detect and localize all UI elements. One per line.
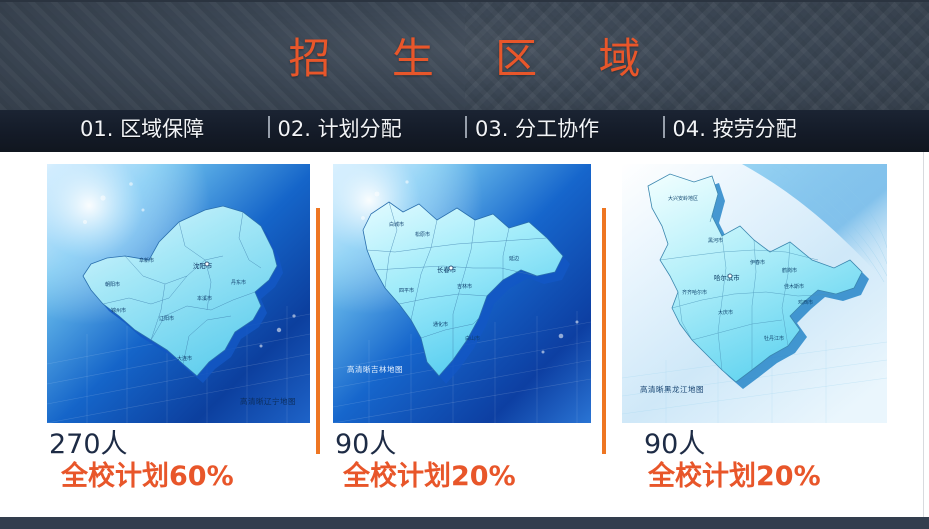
svg-text:辽阳市: 辽阳市	[159, 315, 174, 322]
nav-item-01-label: 区域保障	[120, 117, 204, 141]
svg-text:通化市: 通化市	[433, 321, 448, 328]
map-image-jilin: 长春市 白城市 松原市 四平市 吉林市 通化市 白山市 延边 高清晰吉林地图	[333, 164, 591, 423]
svg-text:丹东市: 丹东市	[231, 279, 246, 286]
column-divider-2	[602, 208, 606, 454]
slide-content: 沈阳市 阜新市 锦州市 辽阳市 本溪市 丹东市 大连市 朝阳市 高清晰辽宁地图 …	[0, 152, 929, 518]
svg-text:哈尔滨市: 哈尔滨市	[714, 273, 740, 282]
nav-item-03-number: 03.	[475, 117, 508, 141]
nav-item-04-number: 04.	[673, 117, 706, 141]
svg-text:长春市: 长春市	[437, 265, 457, 274]
svg-text:佳木斯市: 佳木斯市	[784, 283, 804, 290]
svg-text:大庆市: 大庆市	[718, 309, 733, 316]
plan-percent-liaoning: 全校计划60%	[47, 462, 310, 492]
svg-text:大连市: 大连市	[177, 355, 192, 362]
province-column-jilin: 长春市 白城市 松原市 四平市 吉林市 通化市 白山市 延边 高清晰吉林地图 9…	[333, 152, 591, 492]
svg-text:白城市: 白城市	[389, 221, 404, 228]
province-column-heilongjiang: 哈尔滨市 大兴安岭地区 黑河市 伊春市 鹤岗市 佳木斯市 齐齐哈尔市 大庆市 鸡…	[622, 152, 887, 492]
nav-item-03[interactable]: 03. 分工协作	[467, 110, 665, 152]
svg-text:吉林市: 吉林市	[457, 283, 472, 290]
svg-text:大兴安岭地区: 大兴安岭地区	[668, 195, 698, 202]
map-image-heilongjiang: 哈尔滨市 大兴安岭地区 黑河市 伊春市 鹤岗市 佳木斯市 齐齐哈尔市 大庆市 鸡…	[622, 164, 887, 423]
presentation-slide: 招 生 区 域 01. 区域保障 02. 计划分配 03. 分工协作 04.	[0, 0, 929, 529]
nav-item-03-label: 分工协作	[515, 117, 599, 141]
nav-item-02-label: 计划分配	[318, 117, 402, 141]
svg-text:本溪市: 本溪市	[197, 295, 212, 302]
svg-text:四平市: 四平市	[399, 287, 414, 294]
nav-item-02-number: 02.	[278, 117, 311, 141]
header-top-hairline	[0, 0, 929, 2]
jilin-map-svg: 长春市 白城市 松原市 四平市 吉林市 通化市 白山市 延边	[333, 164, 591, 423]
nav-item-01-number: 01.	[80, 117, 113, 141]
nav-item-01[interactable]: 01. 区域保障	[72, 110, 270, 152]
nav-item-04-label: 按劳分配	[713, 117, 797, 141]
province-column-liaoning: 沈阳市 阜新市 锦州市 辽阳市 本溪市 丹东市 大连市 朝阳市 高清晰辽宁地图 …	[47, 152, 310, 492]
svg-text:黑河市: 黑河市	[708, 237, 723, 244]
column-divider-1	[316, 208, 320, 454]
slide-header: 招 生 区 域	[0, 0, 929, 110]
svg-text:鸡西市: 鸡西市	[798, 299, 813, 306]
plan-percent-jilin: 全校计划20%	[333, 462, 591, 492]
svg-text:延边: 延边	[509, 255, 519, 262]
svg-text:伊春市: 伊春市	[750, 259, 765, 266]
svg-text:阜新市: 阜新市	[139, 257, 154, 264]
map-image-liaoning: 沈阳市 阜新市 锦州市 辽阳市 本溪市 丹东市 大连市 朝阳市 高清晰辽宁地图	[47, 164, 310, 423]
svg-text:鹤岗市: 鹤岗市	[782, 267, 797, 274]
nav-item-02[interactable]: 02. 计划分配	[270, 110, 468, 152]
svg-text:松原市: 松原市	[415, 231, 430, 238]
heilongjiang-map-svg: 哈尔滨市 大兴安岭地区 黑河市 伊春市 鹤岗市 佳木斯市 齐齐哈尔市 大庆市 鸡…	[622, 164, 887, 423]
slide-right-edge	[923, 152, 924, 518]
svg-text:锦州市: 锦州市	[111, 307, 126, 314]
slide-footer-strip	[0, 517, 929, 529]
page-title: 招 生 区 域	[0, 0, 929, 110]
svg-text:牡丹江市: 牡丹江市	[764, 335, 784, 342]
svg-text:齐齐哈尔市: 齐齐哈尔市	[682, 289, 707, 296]
svg-text:沈阳市: 沈阳市	[193, 261, 213, 270]
svg-text:白山市: 白山市	[465, 335, 480, 342]
nav-item-04[interactable]: 04. 按劳分配	[665, 110, 863, 152]
student-count-liaoning: 270人	[47, 430, 310, 459]
student-count-jilin: 90人	[333, 430, 591, 459]
student-count-heilongjiang: 90人	[622, 430, 887, 459]
section-navbar: 01. 区域保障 02. 计划分配 03. 分工协作 04. 按劳分配	[0, 110, 929, 152]
plan-percent-heilongjiang: 全校计划20%	[622, 462, 887, 492]
liaoning-map-svg: 沈阳市 阜新市 锦州市 辽阳市 本溪市 丹东市 大连市 朝阳市	[47, 164, 310, 423]
svg-text:朝阳市: 朝阳市	[105, 281, 120, 288]
